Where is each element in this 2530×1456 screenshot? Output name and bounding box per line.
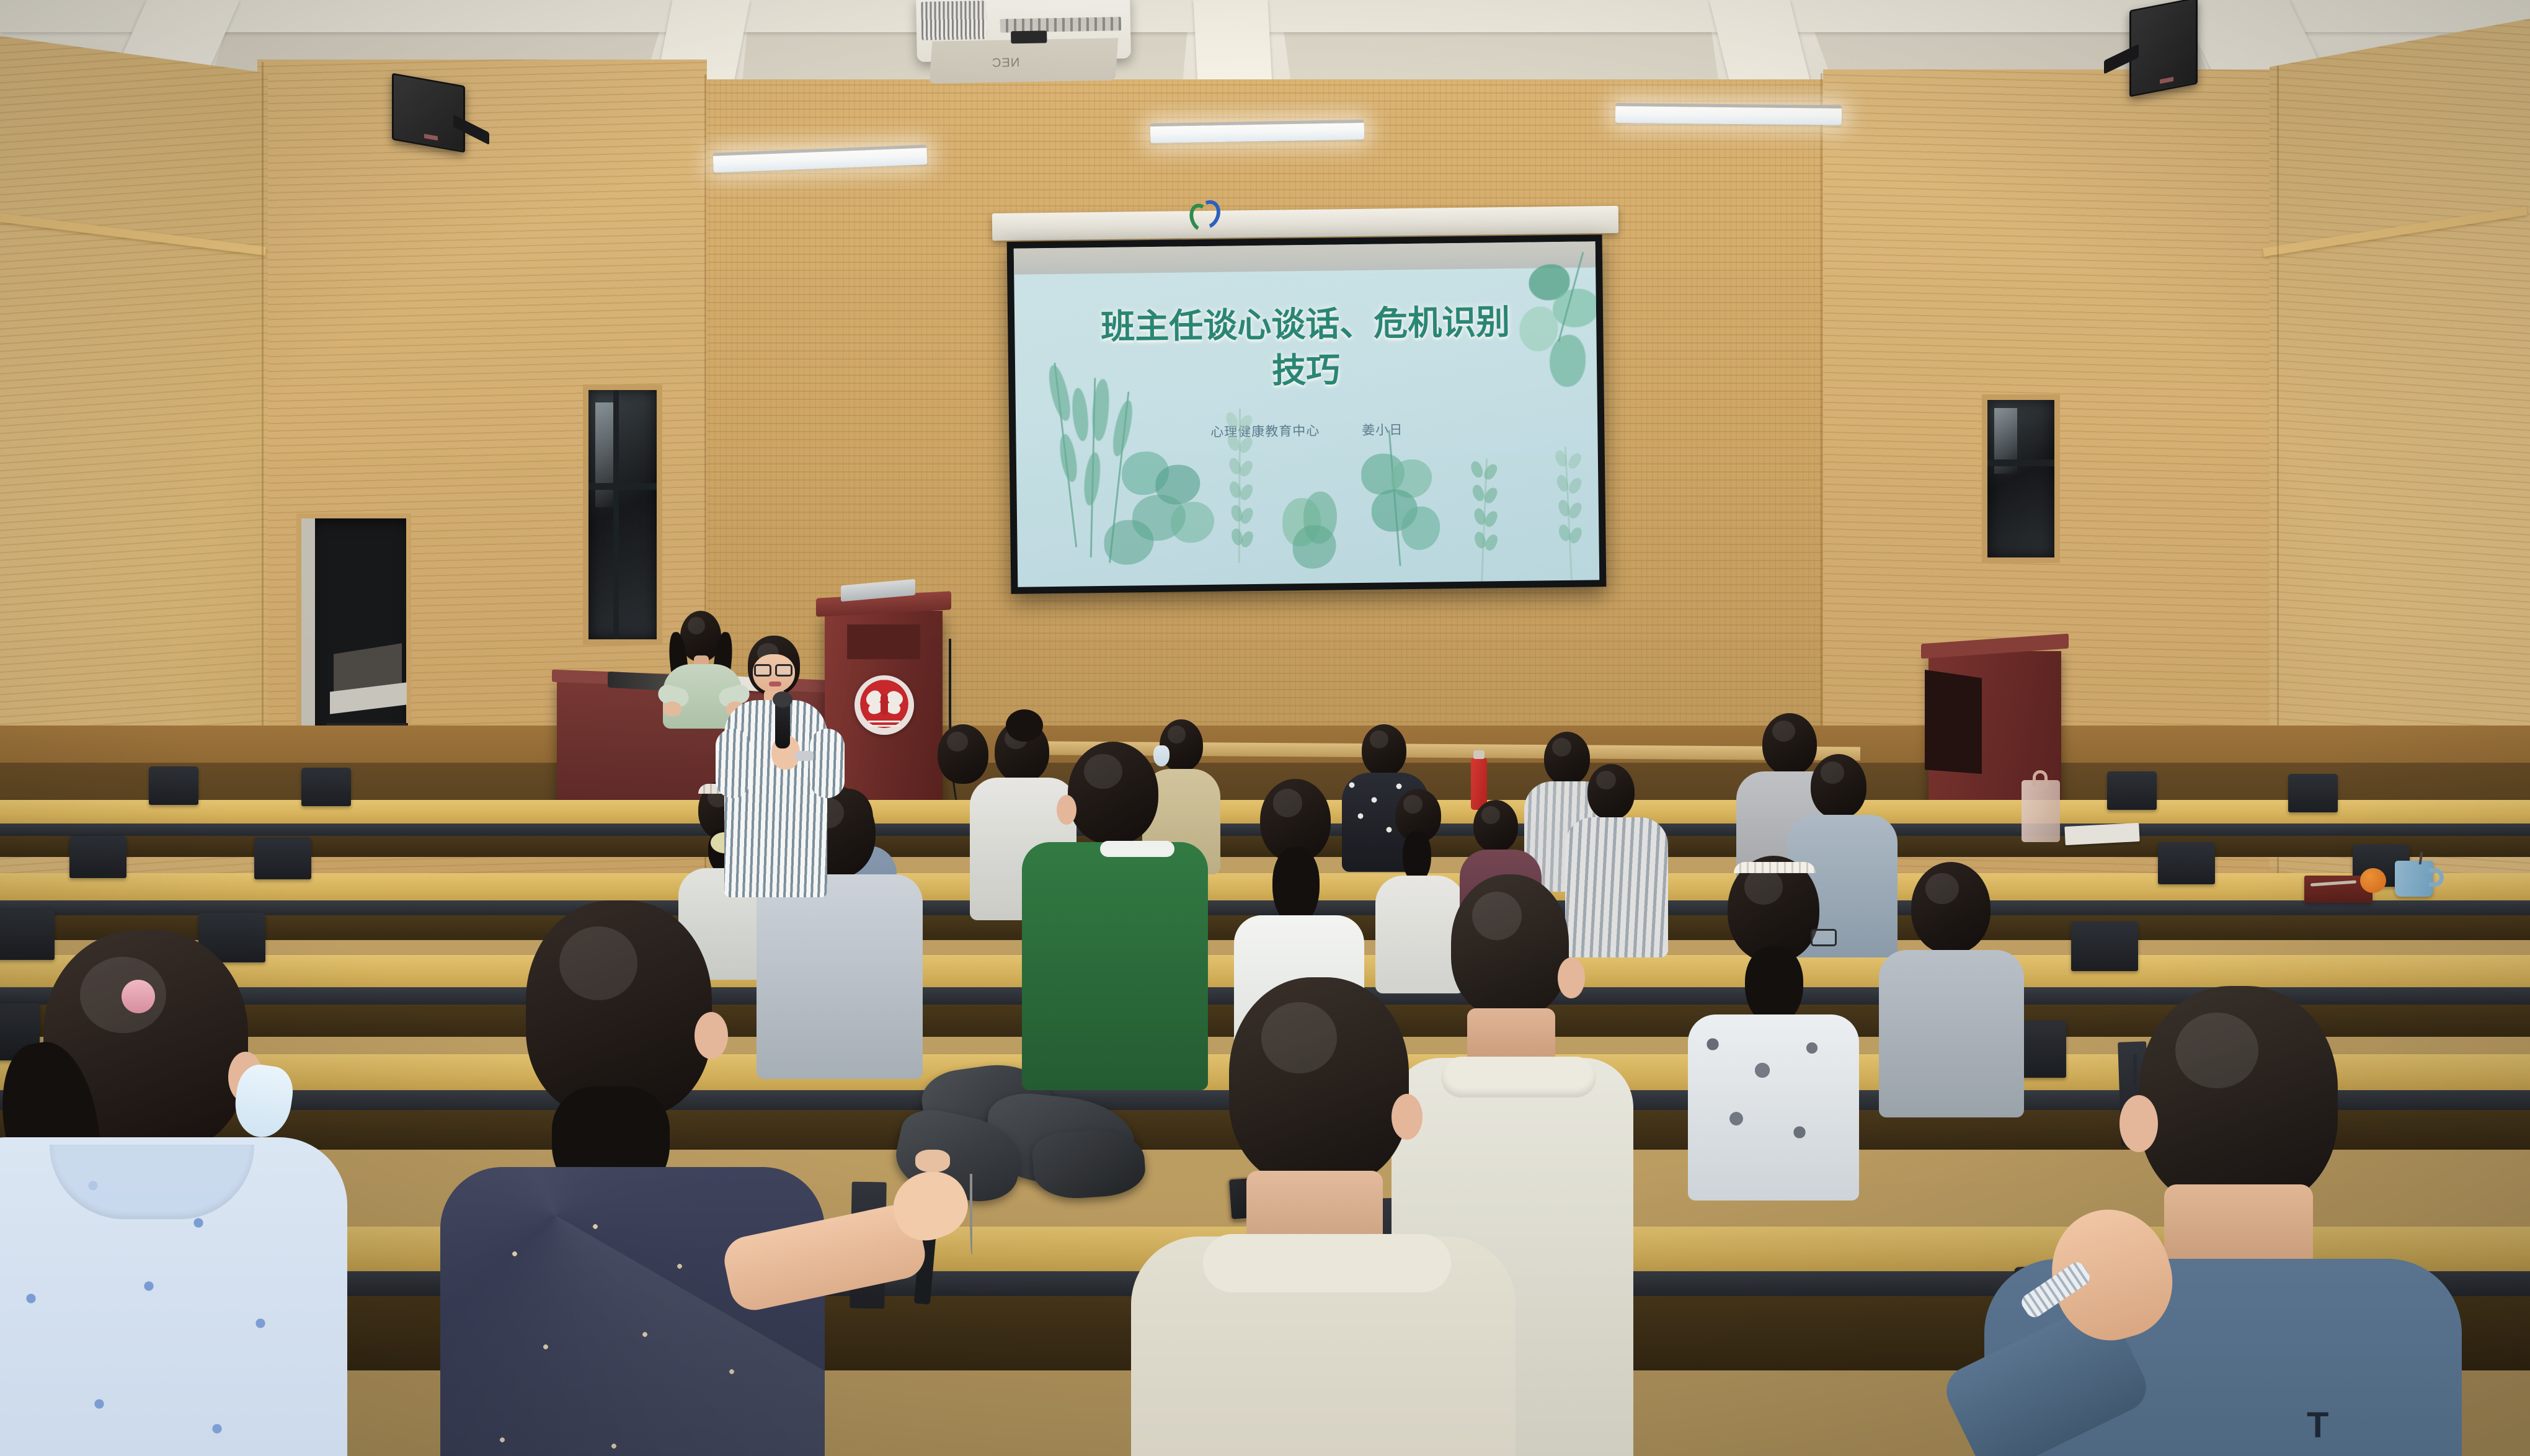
bag-zipper-pull bbox=[970, 1174, 974, 1254]
window-mullion bbox=[613, 390, 619, 639]
assistant-hand bbox=[663, 701, 681, 716]
cable-bundle bbox=[1187, 198, 1227, 233]
torso bbox=[757, 874, 923, 1079]
head bbox=[2139, 986, 2338, 1208]
seat-back[interactable] bbox=[254, 837, 311, 879]
head bbox=[1229, 977, 1409, 1186]
seat-back[interactable] bbox=[2107, 771, 2157, 810]
head bbox=[1362, 724, 1406, 776]
handbag[interactable] bbox=[2022, 780, 2060, 842]
ponytail bbox=[1272, 847, 1320, 926]
projector-plug bbox=[1011, 30, 1047, 43]
fluorescent-light bbox=[1615, 103, 1842, 125]
hair-scrunchie bbox=[122, 980, 155, 1013]
presenter-mouth bbox=[769, 681, 781, 686]
microphone-head-icon bbox=[773, 691, 792, 708]
seat-back[interactable] bbox=[149, 766, 198, 805]
window-mullion bbox=[588, 483, 657, 490]
screen-top-band bbox=[1014, 241, 1596, 274]
leaf-blob bbox=[1171, 502, 1215, 543]
head bbox=[1068, 742, 1158, 845]
ear bbox=[1558, 957, 1585, 998]
podium-neck bbox=[847, 624, 920, 659]
papers-on-desk[interactable] bbox=[2064, 823, 2139, 845]
hair-bun bbox=[1006, 709, 1043, 742]
head bbox=[1587, 764, 1635, 820]
leaf-blob bbox=[1401, 506, 1440, 550]
projector-vent-icon bbox=[921, 1, 987, 40]
school-emblem bbox=[854, 675, 914, 735]
neck bbox=[2164, 1184, 2313, 1271]
leaf-blob bbox=[1104, 520, 1154, 565]
wall-speaker-left bbox=[392, 73, 465, 153]
torso bbox=[1022, 842, 1208, 1090]
window-mullion bbox=[1987, 459, 2054, 466]
window-left bbox=[583, 384, 662, 645]
shirt-logo: T bbox=[2307, 1408, 2335, 1440]
head bbox=[1911, 862, 1991, 954]
projector-brand-label: NEC bbox=[992, 56, 1020, 71]
bag-fold bbox=[1031, 1127, 1147, 1201]
emblem-center bbox=[881, 694, 888, 715]
torso bbox=[440, 1167, 825, 1456]
glasses-icon bbox=[754, 664, 771, 677]
wristwatch bbox=[795, 751, 814, 761]
projector-ports bbox=[1000, 17, 1121, 32]
head bbox=[1544, 732, 1590, 785]
head bbox=[1811, 754, 1866, 819]
seat-back[interactable] bbox=[0, 910, 55, 960]
ear bbox=[695, 1012, 728, 1059]
seat-back[interactable] bbox=[301, 768, 351, 806]
leaf-decoration bbox=[1082, 451, 1102, 506]
leaf-blob bbox=[1292, 525, 1336, 569]
window-right bbox=[1982, 394, 2060, 563]
red-thermos[interactable] bbox=[1471, 758, 1487, 810]
seat-back[interactable] bbox=[2288, 774, 2338, 812]
seat-back[interactable] bbox=[69, 836, 126, 878]
speaker-badge bbox=[2160, 77, 2173, 84]
head bbox=[1451, 874, 1569, 1017]
fluorescent-light bbox=[1150, 120, 1365, 143]
torso bbox=[1879, 950, 2024, 1117]
ear bbox=[1057, 795, 1076, 825]
presenter-arm-left bbox=[716, 729, 750, 798]
projection-screen: 班主任谈心谈话、危机识别 技巧 心理健康教育中心姜小日 bbox=[1007, 234, 1607, 594]
projector-body bbox=[930, 38, 1119, 83]
seat-back[interactable] bbox=[2158, 842, 2215, 884]
finger bbox=[915, 1150, 950, 1172]
side-lectern-slot bbox=[1925, 670, 1982, 774]
vest-collar bbox=[1203, 1234, 1451, 1292]
head bbox=[1762, 713, 1817, 775]
glasses-icon bbox=[1811, 929, 1837, 946]
blue-mug[interactable] bbox=[2395, 861, 2433, 897]
ponytail bbox=[1745, 946, 1803, 1026]
presenter-arm-right bbox=[810, 729, 845, 798]
wall-speaker-right bbox=[2129, 0, 2198, 97]
ceiling-projector: NEC bbox=[916, 0, 1131, 62]
lecture-hall-photo: NEC 消防设备 bbox=[0, 0, 2530, 1456]
emblem-bars bbox=[868, 721, 900, 722]
ear bbox=[1391, 1094, 1423, 1140]
head bbox=[938, 724, 988, 784]
torso bbox=[1688, 1014, 1859, 1201]
seat-back[interactable] bbox=[2071, 921, 2138, 971]
torso bbox=[1565, 817, 1668, 957]
head bbox=[526, 900, 712, 1117]
polo-collar bbox=[1100, 841, 1174, 857]
face-mask bbox=[1153, 745, 1170, 766]
glasses-icon bbox=[775, 664, 792, 677]
head bbox=[1473, 800, 1518, 852]
speaker-badge bbox=[424, 134, 438, 141]
ear bbox=[2119, 1095, 2158, 1152]
slide-surface: 班主任谈心谈话、危机识别 技巧 心理健康教育中心姜小日 bbox=[1014, 241, 1600, 587]
pearl-headband bbox=[1734, 862, 1816, 873]
orange-fruit[interactable] bbox=[2360, 868, 2386, 893]
shirt-collar bbox=[1441, 1057, 1596, 1098]
